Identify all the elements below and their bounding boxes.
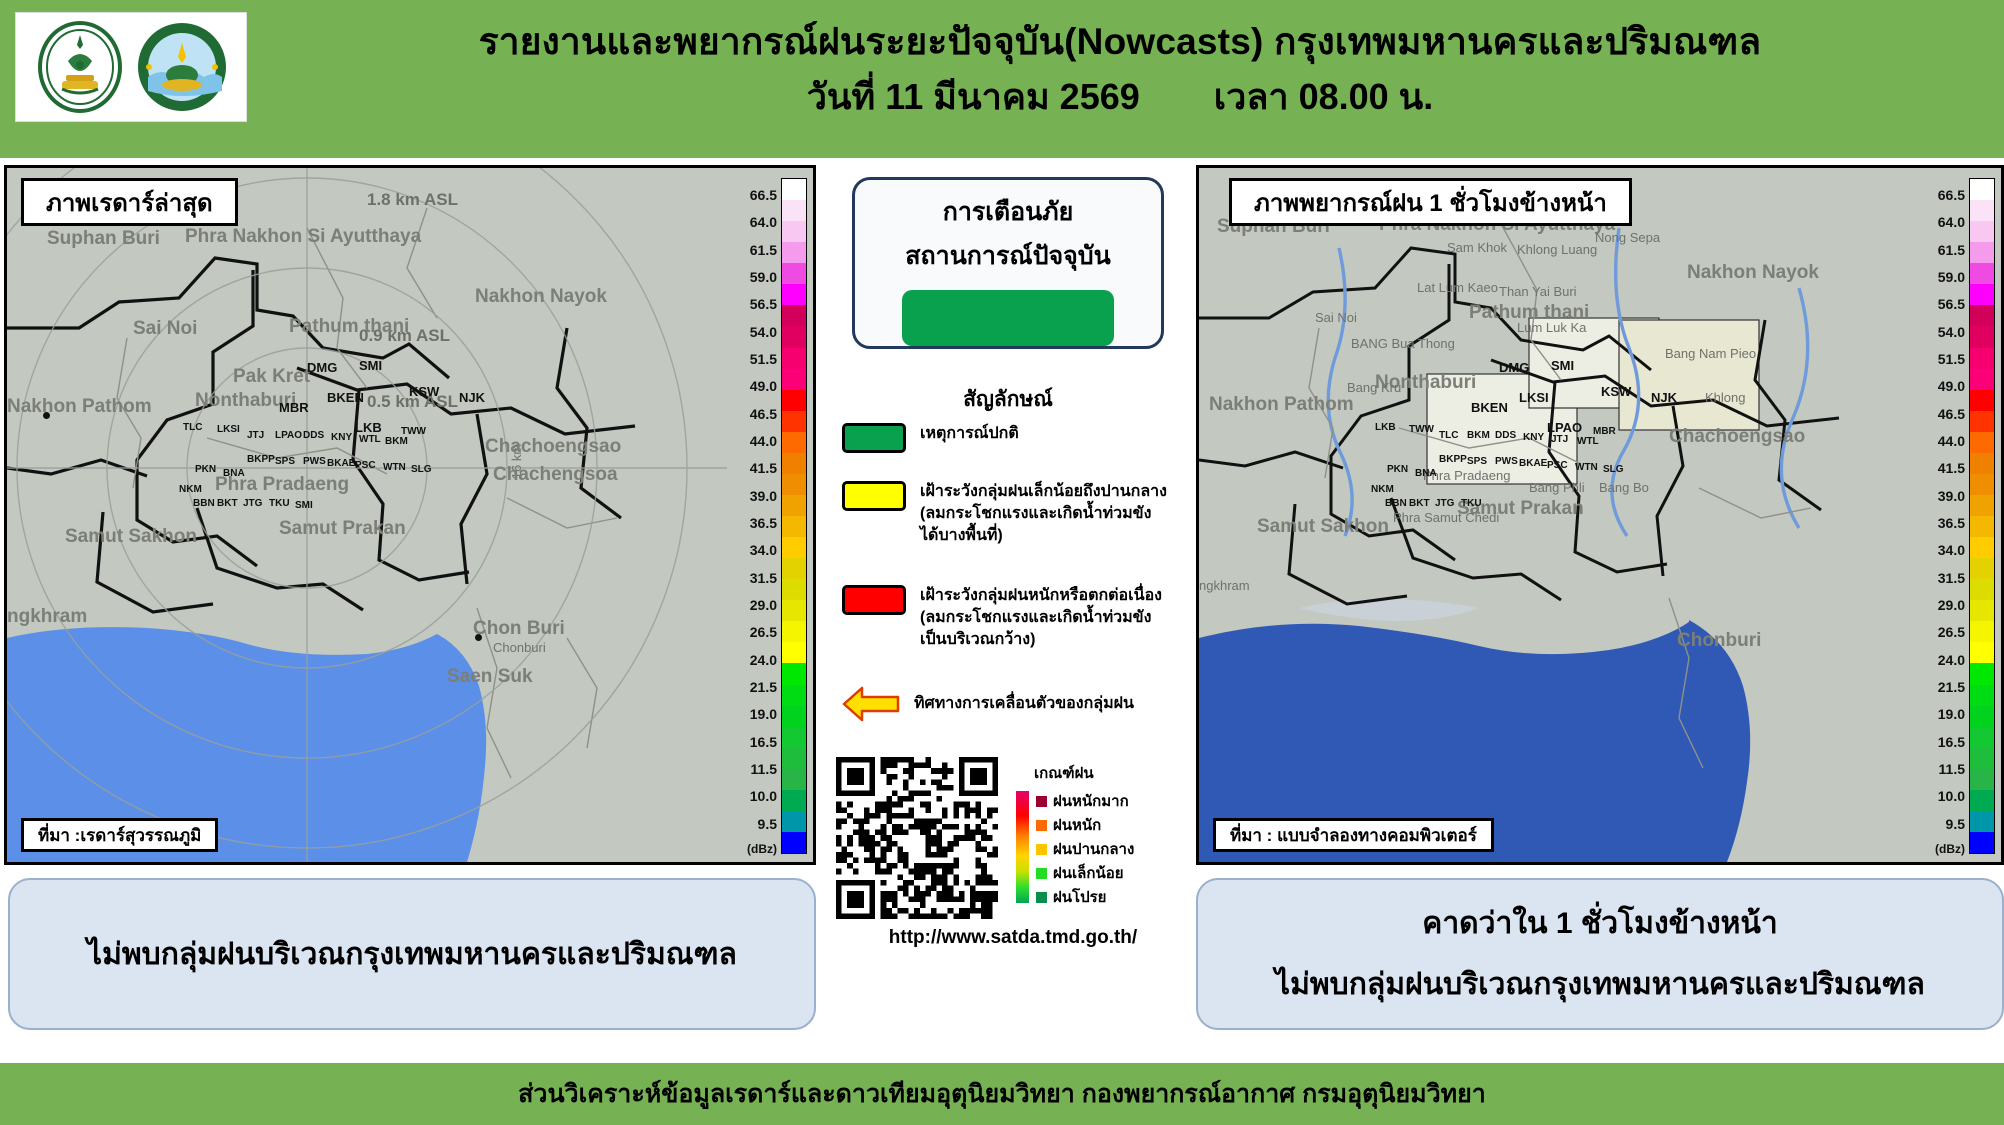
- color-scale-swatch: [1970, 200, 1994, 221]
- color-scale-tick: 64.0: [1919, 214, 1965, 230]
- color-scale-tick: 51.5: [731, 351, 777, 367]
- page-title: รายงานและพยากรณ์ฝนระยะปัจจุบัน(Nowcasts)…: [250, 18, 1990, 120]
- color-scale-tick: 61.5: [1919, 242, 1965, 258]
- station-code-label: SLG: [411, 464, 432, 475]
- station-code-label: BKEN: [1471, 400, 1508, 415]
- color-scale-swatch: [1970, 685, 1994, 706]
- color-scale-tick: 34.0: [1919, 542, 1965, 558]
- color-scale-swatch: [782, 221, 806, 242]
- color-scale-tick: 46.5: [1919, 406, 1965, 422]
- station-code-label: BKT: [1409, 498, 1430, 509]
- color-scale-tick: 10.0: [731, 788, 777, 804]
- color-scale-swatch: [782, 284, 806, 305]
- station-code-label: DDS: [1495, 430, 1516, 441]
- rain-criteria-label: ฝนโปรย: [1053, 885, 1106, 909]
- station-code-label: BKT: [217, 498, 238, 509]
- station-code-label: LPAO: [275, 430, 302, 441]
- color-scale-tick: 36.5: [731, 515, 777, 531]
- station-code-label: JTG: [243, 498, 262, 509]
- color-scale-tick: 39.0: [1919, 488, 1965, 504]
- color-scale-swatch: [782, 790, 806, 811]
- station-code-label: SPS: [275, 456, 295, 467]
- station-code-label: PKN: [1387, 464, 1408, 475]
- rain-criteria-label: ฝนหนักมาก: [1053, 789, 1129, 813]
- station-code-label: DMG: [307, 360, 337, 375]
- rain-criteria-title: เกณฑ์ฝน: [1034, 761, 1192, 785]
- yellow-status-chip-icon: [842, 481, 906, 511]
- color-scale-swatch: [1970, 769, 1994, 790]
- left-arrow-icon: [842, 685, 900, 723]
- color-scale-swatch: [782, 811, 806, 832]
- station-code-label: JTG: [1435, 498, 1454, 509]
- station-code-label: NKM: [1371, 484, 1394, 495]
- station-code-label: BKAE: [327, 458, 355, 469]
- color-scale-swatch: [782, 600, 806, 621]
- color-scale-swatch: [782, 348, 806, 369]
- color-scale-swatch: [1970, 432, 1994, 453]
- color-scale-swatch: [1970, 263, 1994, 284]
- color-scale-bar: [781, 178, 807, 854]
- station-code-label: NJK: [459, 390, 485, 405]
- rain-intensity-gradient: [1016, 791, 1029, 903]
- station-code-label: TLC: [1439, 430, 1458, 441]
- color-scale-swatch: [782, 706, 806, 727]
- station-code-label: BBN: [193, 498, 215, 509]
- color-scale-tick: 59.0: [731, 269, 777, 285]
- color-scale-unit: (dBz): [1935, 842, 1965, 856]
- color-scale-swatch: [1970, 453, 1994, 474]
- color-scale-swatch: [1970, 284, 1994, 305]
- color-scale-tick: 21.5: [731, 679, 777, 695]
- qr-code-icon[interactable]: [836, 757, 998, 919]
- color-scale-tick: 56.5: [731, 296, 777, 312]
- color-scale-swatch: [1970, 495, 1994, 516]
- color-scale-swatch: [1970, 663, 1994, 684]
- station-code-label: SMI: [295, 500, 313, 511]
- station-code-label: KNY: [1523, 432, 1544, 443]
- agency-logos: [15, 12, 247, 122]
- legend-heading: สัญลักษณ์: [824, 383, 1192, 416]
- center-legend-column: การเตือนภัย สถานการณ์ปัจจุบัน สัญลักษณ์ …: [824, 165, 1192, 1045]
- color-scale-swatch: [1970, 474, 1994, 495]
- color-scale-tick: 10.0: [1919, 788, 1965, 804]
- station-code-label: NKM: [179, 484, 202, 495]
- color-scale-tick: 39.0: [731, 488, 777, 504]
- station-code-label: KSW: [1601, 384, 1631, 399]
- page-title-line1: รายงานและพยากรณ์ฝนระยะปัจจุบัน(Nowcasts)…: [250, 18, 1990, 67]
- color-scale-tick: 26.5: [731, 624, 777, 640]
- color-scale-swatch: [1970, 811, 1994, 832]
- station-code-label: MBR: [279, 400, 309, 415]
- station-code-label: BBN: [1385, 498, 1407, 509]
- station-code-label: BKEN: [327, 390, 364, 405]
- color-scale-tick: 29.0: [731, 597, 777, 613]
- color-scale-swatch: [782, 200, 806, 221]
- forecast-summary-box: คาดว่าใน 1 ชั่วโมงข้างหน้า ไม่พบกลุ่มฝนบ…: [1196, 878, 2004, 1030]
- color-scale-swatch: [1970, 221, 1994, 242]
- station-code-label: TLC: [183, 422, 202, 433]
- station-code-label: SPS: [1467, 456, 1487, 467]
- website-url[interactable]: http://www.satda.tmd.go.th/: [830, 927, 1196, 949]
- color-scale-swatch: [1970, 790, 1994, 811]
- color-scale-tick: 36.5: [1919, 515, 1965, 531]
- forecast-summary-line1: คาดว่าใน 1 ชั่วโมงข้างหน้า: [1422, 900, 1777, 947]
- color-scale-tick: 31.5: [1919, 570, 1965, 586]
- color-scale-swatch: [782, 474, 806, 495]
- station-code-label: PWS: [1495, 456, 1518, 467]
- color-scale-ticks: 66.564.061.559.056.554.051.549.046.544.0…: [1919, 178, 1965, 854]
- color-scale-swatch: [782, 727, 806, 748]
- station-code-label: WTN: [383, 462, 406, 473]
- page-footer: ส่วนวิเคราะห์ข้อมูลเรดาร์และดาวเทียมอุตุ…: [0, 1063, 2004, 1125]
- station-code-label: KNY: [331, 432, 352, 443]
- province-boundaries: [7, 168, 813, 862]
- color-scale-swatch: [1970, 179, 1994, 200]
- legend-item-moderate-watch: เฝ้าระวังกลุ่มฝนเล็กน้อยถึงปานกลาง(ลมกระ…: [842, 481, 1167, 547]
- color-scale-swatch: [782, 495, 806, 516]
- station-code-label: SLG: [1603, 464, 1624, 475]
- rain-criteria-swatch: [1036, 844, 1047, 855]
- green-status-chip-icon: [842, 423, 906, 453]
- color-scale-tick: 61.5: [731, 242, 777, 258]
- color-scale-swatch: [1970, 748, 1994, 769]
- color-scale-swatch: [1970, 558, 1994, 579]
- color-scale-swatch: [782, 326, 806, 347]
- color-scale-swatch: [782, 263, 806, 284]
- color-scale-swatch: [782, 748, 806, 769]
- color-scale-swatch: [1970, 390, 1994, 411]
- station-code-label: PSC: [1547, 460, 1568, 471]
- color-scale-swatch: [1970, 411, 1994, 432]
- report-date: วันที่ 11 มีนาคม 2569: [807, 76, 1140, 117]
- rain-criteria-label: ฝนหนัก: [1053, 813, 1101, 837]
- nowcast-page: รายงานและพยากรณ์ฝนระยะปัจจุบัน(Nowcasts)…: [0, 0, 2004, 1125]
- color-scale-tick: 56.5: [1919, 296, 1965, 312]
- color-scale-tick: 16.5: [1919, 734, 1965, 750]
- station-code-label: LPAO: [1547, 420, 1582, 435]
- station-code-label: NJK: [1651, 390, 1677, 405]
- station-code-label: DDS: [303, 430, 324, 441]
- station-code-label: KSW: [409, 384, 439, 399]
- rain-criteria-item: ฝนปานกลาง: [1036, 837, 1134, 861]
- station-code-label: BKPP: [247, 454, 275, 465]
- color-scale-swatch: [782, 411, 806, 432]
- color-scale-tick: 24.0: [731, 652, 777, 668]
- station-code-label: WTL: [359, 434, 381, 445]
- station-code-label: BNA: [1415, 468, 1437, 479]
- page-header: รายงานและพยากรณ์ฝนระยะปัจจุบัน(Nowcasts)…: [0, 0, 2004, 158]
- color-scale-tick: 44.0: [1919, 433, 1965, 449]
- color-scale-swatch: [782, 537, 806, 558]
- radar-summary-box: ไม่พบกลุ่มฝนบริเวณกรุงเทพมหานครและปริมณฑ…: [8, 878, 816, 1030]
- province-boundaries: [1199, 168, 2001, 862]
- rain-criteria-item: ฝนเล็กน้อย: [1036, 861, 1134, 885]
- page-title-line2: วันที่ 11 มีนาคม 2569 เวลา 08.00 น.: [250, 73, 1990, 121]
- color-scale-tick: 51.5: [1919, 351, 1965, 367]
- radar-panel-source: ที่มา :เรดาร์สุวรรณภูมิ: [21, 818, 218, 852]
- station-code-label: JTJ: [247, 430, 264, 441]
- rain-criteria-legend: เกณฑ์ฝน ฝนหนักมากฝนหนักฝนปานกลางฝนเล็กน้…: [1016, 761, 1192, 905]
- color-scale-swatch: [782, 685, 806, 706]
- color-scale-tick: 49.0: [731, 378, 777, 394]
- color-scale-tick: 16.5: [731, 734, 777, 750]
- color-scale-tick: 19.0: [731, 706, 777, 722]
- station-code-label: TKU: [269, 498, 290, 509]
- station-code-label: BKM: [385, 436, 408, 447]
- city-dot: [43, 412, 50, 419]
- station-code-label: SMI: [359, 358, 382, 373]
- rain-criteria-items: ฝนหนักมากฝนหนักฝนปานกลางฝนเล็กน้อยฝนโปรย: [1036, 789, 1134, 905]
- color-scale-swatch: [782, 558, 806, 579]
- color-scale-swatch: [1970, 579, 1994, 600]
- color-scale-swatch: [782, 453, 806, 474]
- legend-item-text: เฝ้าระวังกลุ่มฝนหนักหรือตกต่อเนื่อง(ลมกร…: [920, 585, 1162, 651]
- station-code-label: TWW: [1409, 424, 1434, 435]
- station-code-label: PSC: [355, 460, 376, 471]
- station-code-label: DMG: [1499, 360, 1529, 375]
- alert-status-indicator: [902, 290, 1114, 346]
- radar-summary-text: ไม่พบกลุ่มฝนบริเวณกรุงเทพมหานครและปริมณฑ…: [87, 931, 737, 978]
- color-scale-swatch: [782, 663, 806, 684]
- rain-criteria-label: ฝนปานกลาง: [1053, 837, 1134, 861]
- color-scale-bar: [1969, 178, 1995, 854]
- station-code-label: JTJ: [1551, 434, 1568, 445]
- station-code-label: LKB: [355, 420, 382, 435]
- alert-card-title-2: สถานการณ์ปัจจุบัน: [905, 236, 1110, 276]
- color-scale-tick: 66.5: [1919, 187, 1965, 203]
- report-time: เวลา 08.00 น.: [1214, 76, 1434, 117]
- color-scale-tick: 29.0: [1919, 597, 1965, 613]
- forecast-panel-title: ภาพพยากรณ์ฝน 1 ชั่วโมงข้างหน้า: [1229, 178, 1632, 226]
- radar-map-panel[interactable]: 1.8 km ASL 0.9 km ASL 0.5 km ASL 16 km S…: [4, 165, 816, 865]
- color-scale-tick: 11.5: [731, 761, 777, 777]
- forecast-map-surface[interactable]: Suphan BuriPhra Nakhon Si AyutthayaNong …: [1199, 168, 2001, 862]
- color-scale-swatch: [782, 242, 806, 263]
- station-code-label: WTL: [1577, 436, 1599, 447]
- station-code-label: WTN: [1575, 462, 1598, 473]
- color-scale-tick: 19.0: [1919, 706, 1965, 722]
- color-scale-swatch: [782, 516, 806, 537]
- station-code-label: LKB: [1375, 422, 1396, 433]
- alert-status-card: การเตือนภัย สถานการณ์ปัจจุบัน: [852, 177, 1164, 349]
- color-scale-tick: 41.5: [731, 460, 777, 476]
- color-scale-swatch: [1970, 727, 1994, 748]
- color-scale-swatch: [782, 769, 806, 790]
- legend-item-normal: เหตุการณ์ปกติ: [842, 423, 1019, 453]
- station-code-label: TKU: [1461, 498, 1482, 509]
- color-scale-tick: 21.5: [1919, 679, 1965, 695]
- color-scale-tick: 24.0: [1919, 652, 1965, 668]
- rain-criteria-swatch: [1036, 820, 1047, 831]
- color-scale-unit: (dBz): [747, 842, 777, 856]
- rain-criteria-item: ฝนหนักมาก: [1036, 789, 1134, 813]
- color-scale-swatch: [1970, 621, 1994, 642]
- color-scale-swatch: [782, 642, 806, 663]
- station-code-label: SMI: [1551, 358, 1574, 373]
- color-scale-swatch: [782, 305, 806, 326]
- color-scale-tick: 11.5: [1919, 761, 1965, 777]
- color-scale-tick: 9.5: [1919, 816, 1965, 832]
- forecast-map-panel[interactable]: Suphan BuriPhra Nakhon Si AyutthayaNong …: [1196, 165, 2004, 865]
- color-scale-swatch: [1970, 537, 1994, 558]
- station-code-label: BKPP: [1439, 454, 1467, 465]
- rain-criteria-label: ฝนเล็กน้อย: [1053, 861, 1124, 885]
- color-scale-tick: 64.0: [731, 214, 777, 230]
- station-code-label: BKAE: [1519, 458, 1547, 469]
- rain-criteria-item: ฝนหนัก: [1036, 813, 1134, 837]
- color-scale-tick: 46.5: [731, 406, 777, 422]
- color-scale-tick: 26.5: [1919, 624, 1965, 640]
- city-dot: [475, 634, 482, 641]
- station-code-label: BKM: [1467, 430, 1490, 441]
- color-scale-swatch: [1970, 600, 1994, 621]
- station-code-label: BNA: [223, 468, 245, 479]
- rain-criteria-swatch: [1036, 796, 1047, 807]
- radar-panel-title: ภาพเรดาร์ล่าสุด: [21, 178, 238, 226]
- color-scale-tick: 59.0: [1919, 269, 1965, 285]
- color-scale-tick: 31.5: [731, 570, 777, 586]
- legend-item-movement-direction: ทิศทางการเคลื่อนตัวของกลุ่มฝน: [842, 685, 1134, 723]
- color-scale-swatch: [1970, 369, 1994, 390]
- rain-criteria-swatch: [1036, 892, 1047, 903]
- red-status-chip-icon: [842, 585, 906, 615]
- color-scale-swatch: [782, 432, 806, 453]
- tmd-seal-icon: [134, 19, 230, 115]
- forecast-summary-line2: ไม่พบกลุ่มฝนบริเวณกรุงเทพมหานครและปริมณฑ…: [1275, 961, 1925, 1008]
- color-scale-swatch: [1970, 642, 1994, 663]
- color-scale-swatch: [1970, 242, 1994, 263]
- color-scale-swatch: [782, 179, 806, 200]
- color-scale-tick: 9.5: [731, 816, 777, 832]
- color-scale-swatch: [1970, 326, 1994, 347]
- rain-criteria-swatch: [1036, 868, 1047, 879]
- radar-color-scale-right: 66.564.061.559.056.554.051.549.046.544.0…: [1915, 168, 2001, 862]
- color-scale-swatch: [1970, 832, 1994, 853]
- station-code-label: PWS: [303, 456, 326, 467]
- station-code-label: LKSI: [217, 424, 240, 435]
- color-scale-tick: 54.0: [1919, 324, 1965, 340]
- color-scale-swatch: [782, 621, 806, 642]
- rain-criteria-item: ฝนโปรย: [1036, 885, 1134, 909]
- color-scale-tick: 44.0: [731, 433, 777, 449]
- legend-item-text: เฝ้าระวังกลุ่มฝนเล็กน้อยถึงปานกลาง(ลมกระ…: [920, 481, 1167, 547]
- color-scale-swatch: [782, 832, 806, 853]
- forecast-panel-source: ที่มา : แบบจำลองทางคอมพิวเตอร์: [1213, 818, 1494, 852]
- color-scale-tick: 54.0: [731, 324, 777, 340]
- station-code-label: PKN: [195, 464, 216, 475]
- radar-color-scale-left: 66.564.061.559.056.554.051.549.046.544.0…: [727, 168, 813, 862]
- radar-map-surface[interactable]: 1.8 km ASL 0.9 km ASL 0.5 km ASL 16 km S…: [7, 168, 813, 862]
- color-scale-swatch: [1970, 348, 1994, 369]
- color-scale-tick: 34.0: [731, 542, 777, 558]
- color-scale-ticks: 66.564.061.559.056.554.051.549.046.544.0…: [731, 178, 777, 854]
- color-scale-swatch: [782, 579, 806, 600]
- legend-item-heavy-watch: เฝ้าระวังกลุ่มฝนหนักหรือตกต่อเนื่อง(ลมกร…: [842, 585, 1162, 651]
- altitude-label-2: 0.9 km ASL: [359, 326, 450, 346]
- color-scale-swatch: [1970, 706, 1994, 727]
- footer-text: ส่วนวิเคราะห์ข้อมูลเรดาร์และดาวเทียมอุตุ…: [518, 1074, 1486, 1114]
- station-code-label: LKSI: [1519, 390, 1549, 405]
- color-scale-swatch: [1970, 305, 1994, 326]
- color-scale-swatch: [782, 390, 806, 411]
- color-scale-tick: 66.5: [731, 187, 777, 203]
- legend-item-text: เหตุการณ์ปกติ: [920, 423, 1019, 445]
- color-scale-tick: 49.0: [1919, 378, 1965, 394]
- color-scale-tick: 41.5: [1919, 460, 1965, 476]
- color-scale-swatch: [1970, 516, 1994, 537]
- legend-item-text: ทิศทางการเคลื่อนตัวของกลุ่มฝน: [914, 693, 1134, 715]
- royal-irrigation-seal-icon: [32, 19, 128, 115]
- altitude-label-1: 1.8 km ASL: [367, 190, 458, 210]
- alert-card-title-1: การเตือนภัย: [943, 192, 1074, 232]
- color-scale-swatch: [782, 369, 806, 390]
